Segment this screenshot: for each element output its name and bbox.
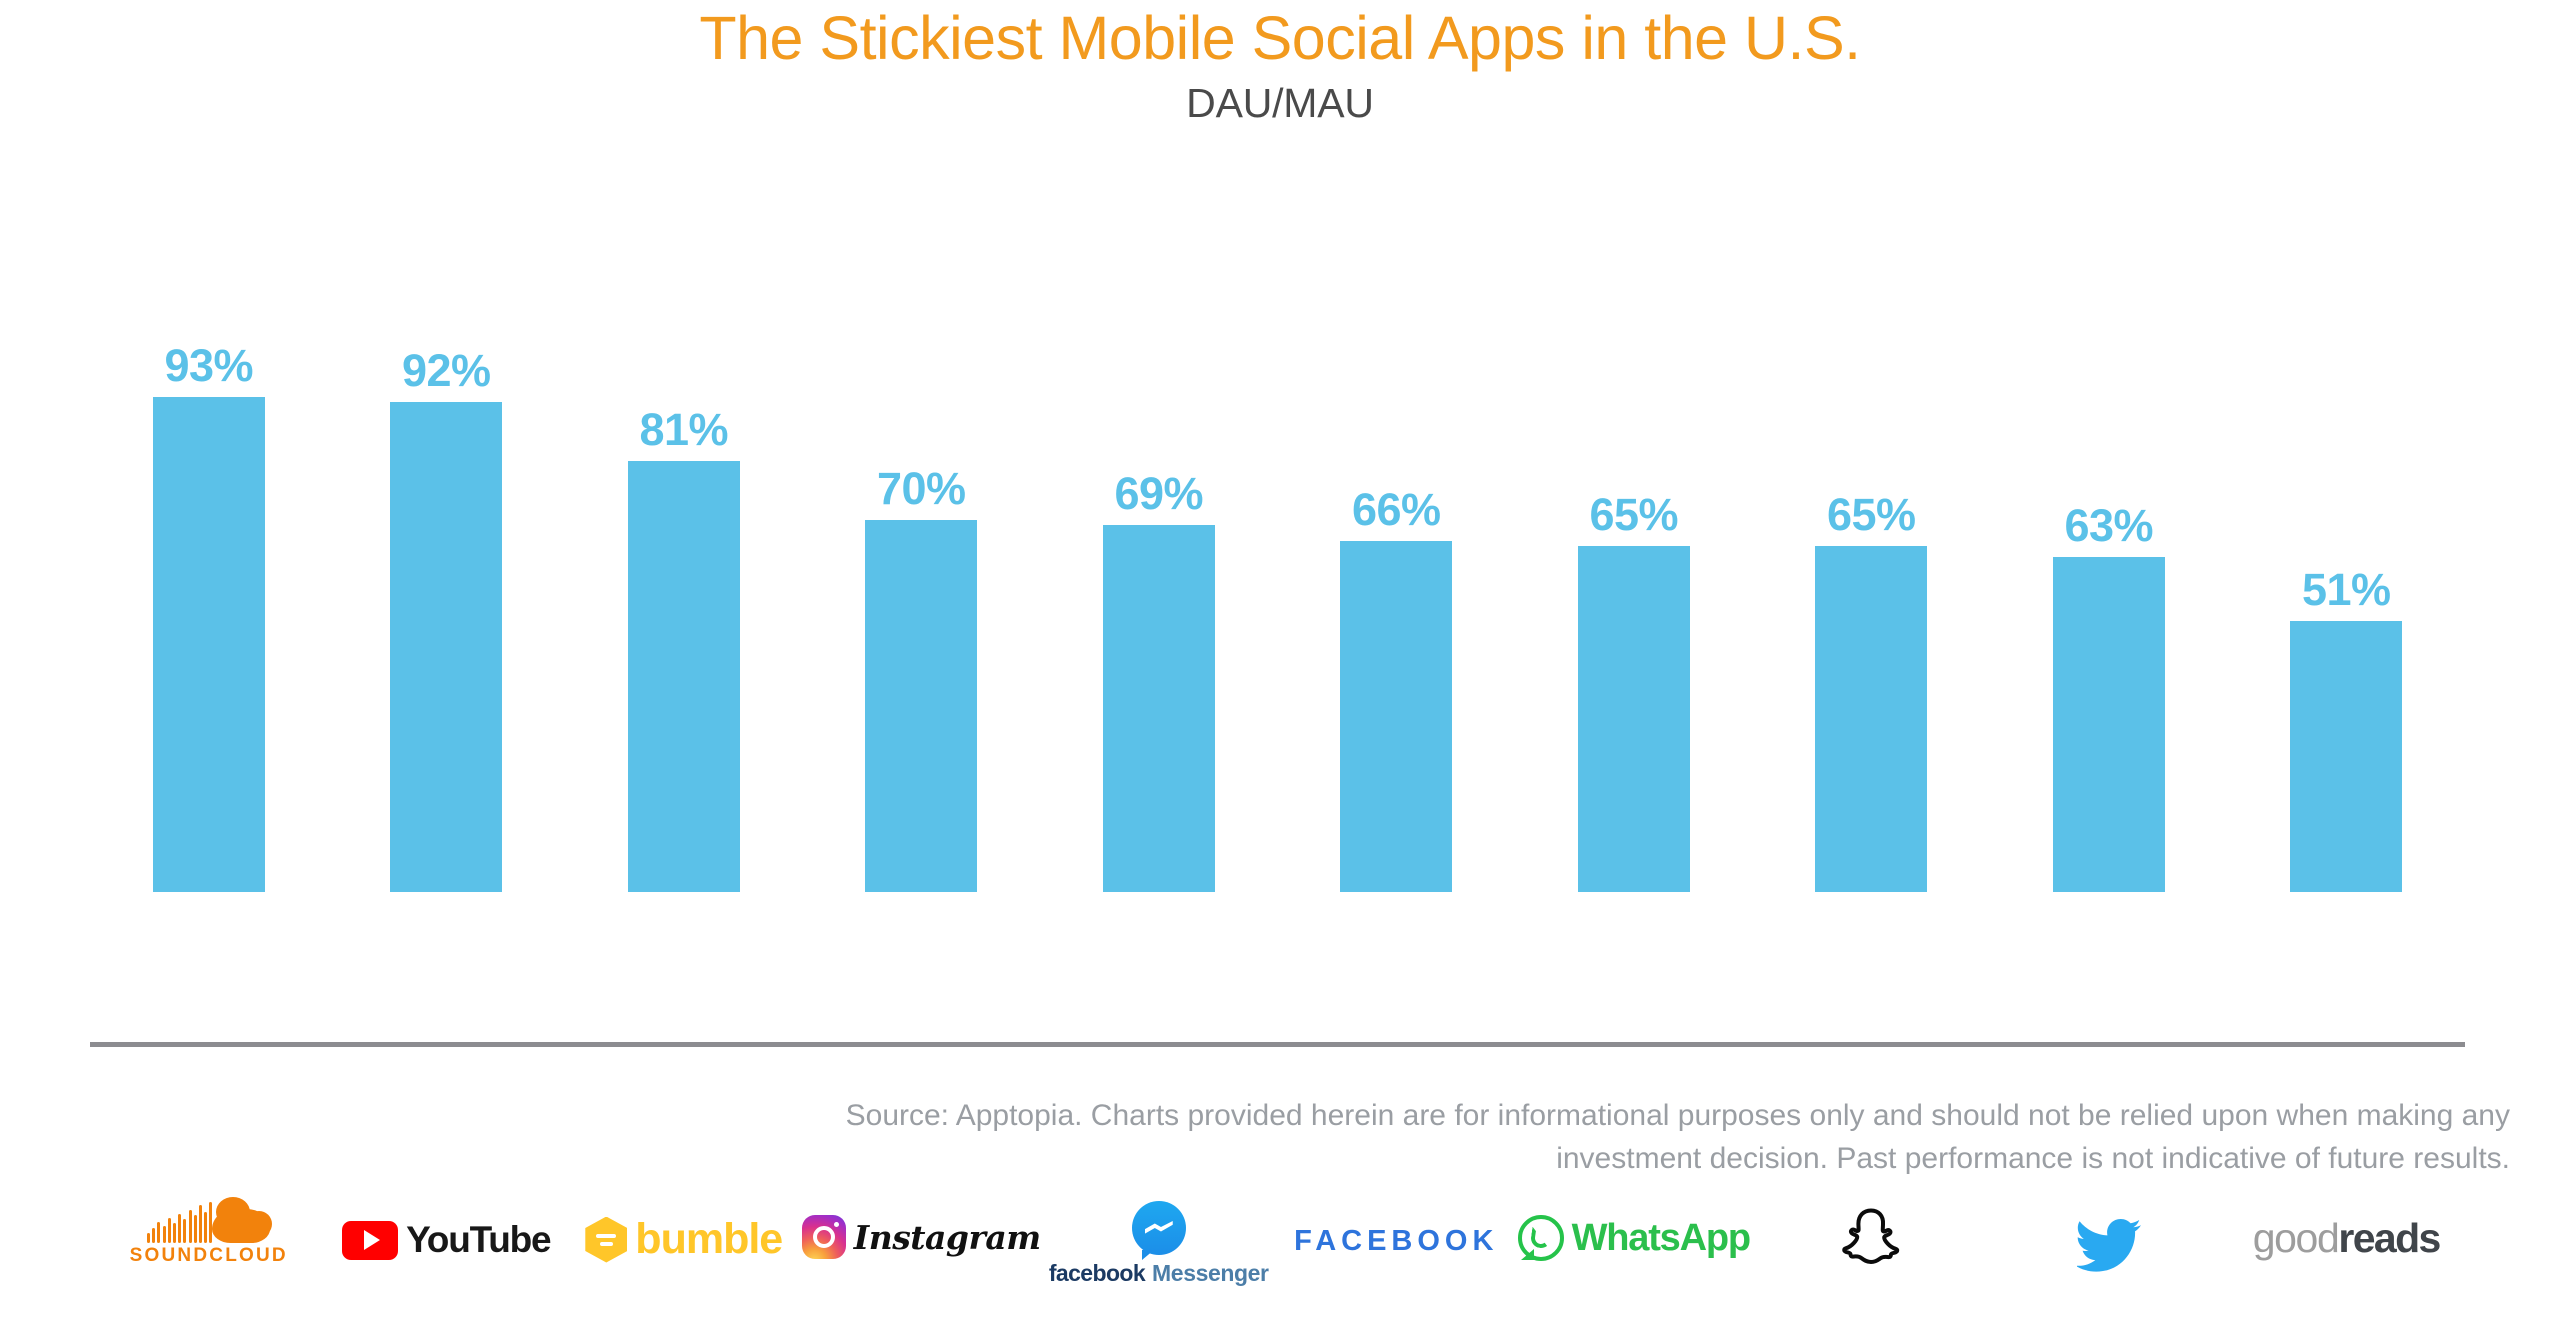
soundcloud-wordmark: SOUNDCLOUD <box>130 1245 288 1267</box>
bar-group-facebook[interactable]: 66% <box>1278 150 1516 892</box>
bar-series: 93% 92% 81% 70% 69% 66% 65% <box>90 150 2465 892</box>
x-label-facebook: FACEBOOK <box>1278 1197 1516 1258</box>
twitter-logo <box>2077 1201 2141 1273</box>
bar-value-label: 70% <box>877 463 966 515</box>
bar-rect[interactable] <box>153 397 265 892</box>
bar-group-whatsapp[interactable]: 65% <box>1515 150 1753 892</box>
bar-value-label: 66% <box>1352 484 1441 536</box>
bar-value-label: 63% <box>2064 500 2153 552</box>
bar-value-label: 65% <box>1589 489 1678 541</box>
x-label-instagram: Instagram <box>803 1197 1041 1259</box>
youtube-wordmark: YouTube <box>406 1219 550 1261</box>
facebook-wordmark: FACEBOOK <box>1294 1225 1498 1258</box>
bar-group-youtube[interactable]: 92% <box>328 150 566 892</box>
bar-group-soundcloud[interactable]: 93% <box>90 150 328 892</box>
bar-group-goodreads[interactable]: 51% <box>2228 150 2466 892</box>
bar-group-instagram[interactable]: 70% <box>803 150 1041 892</box>
bar-group-twitter[interactable]: 63% <box>1990 150 2228 892</box>
bar-rect[interactable] <box>1815 546 1927 892</box>
x-label-twitter <box>1990 1197 2228 1273</box>
snapchat-ghost-icon <box>1842 1207 1900 1269</box>
soundcloud-cloud-icon <box>212 1209 270 1243</box>
bar-rect[interactable] <box>2053 557 2165 892</box>
bar-rect[interactable] <box>1578 546 1690 892</box>
snapchat-logo <box>1842 1201 1900 1269</box>
x-axis-labels: SOUNDCLOUD YouTube bumble <box>90 1197 2465 1317</box>
bar-value-label: 93% <box>164 340 253 392</box>
bar-value-label: 69% <box>1114 468 1203 520</box>
x-label-youtube: YouTube <box>328 1197 566 1261</box>
instagram-camera-icon <box>802 1215 846 1259</box>
facebook-wordmark: facebook <box>1049 1260 1145 1287</box>
facebook-wordmark-logo: FACEBOOK <box>1294 1201 1498 1258</box>
bar-value-label: 92% <box>402 345 491 397</box>
messenger-bubble-icon <box>1132 1201 1186 1255</box>
bar-rect[interactable] <box>1103 525 1215 892</box>
x-label-goodreads: good reads <box>2228 1197 2466 1262</box>
messenger-bolt-icon <box>1145 1220 1173 1236</box>
messenger-wordmark: Messenger <box>1152 1260 1269 1287</box>
bar-chart: 93% 92% 81% 70% 69% 66% 65% <box>0 150 2560 910</box>
instagram-wordmark: Instagram <box>854 1218 1041 1257</box>
bar-value-label: 81% <box>639 404 728 456</box>
chart-subtitle: DAU/MAU <box>0 78 2560 129</box>
bar-group-snapchat[interactable]: 65% <box>1753 150 1991 892</box>
page-title: The Stickiest Mobile Social Apps in the … <box>0 6 2560 70</box>
bumble-logo: bumble <box>585 1201 782 1264</box>
bar-rect[interactable] <box>865 520 977 892</box>
x-axis-line <box>90 1042 2465 1047</box>
x-label-snapchat <box>1753 1197 1991 1269</box>
bar-rect[interactable] <box>390 402 502 892</box>
twitter-bird-icon <box>2077 1217 2141 1273</box>
x-label-bumble: bumble <box>565 1197 803 1264</box>
bar-group-bumble[interactable]: 81% <box>565 150 803 892</box>
bar-rect[interactable] <box>1340 541 1452 892</box>
bumble-hex-icon <box>585 1217 627 1263</box>
x-label-whatsapp: WhatsApp <box>1515 1197 1753 1261</box>
bar-value-label: 65% <box>1827 489 1916 541</box>
bar-rect[interactable] <box>628 461 740 892</box>
whatsapp-wordmark: WhatsApp <box>1572 1217 1750 1260</box>
soundcloud-waveform-icon <box>147 1201 270 1243</box>
bumble-wordmark: bumble <box>635 1215 782 1264</box>
bar-value-label: 51% <box>2302 564 2391 616</box>
youtube-play-icon <box>342 1221 398 1260</box>
facebook-messenger-logo: facebook Messenger <box>1049 1201 1269 1287</box>
goodreads-logo: good reads <box>2253 1201 2440 1262</box>
whatsapp-logo: WhatsApp <box>1518 1201 1750 1261</box>
source-note: Source: Apptopia. Charts provided herein… <box>0 1095 2510 1180</box>
whatsapp-phone-bubble-icon <box>1518 1215 1564 1261</box>
title-block: The Stickiest Mobile Social Apps in the … <box>0 0 2560 129</box>
bar-rect[interactable] <box>2290 621 2402 892</box>
x-label-soundcloud: SOUNDCLOUD <box>90 1197 328 1267</box>
soundcloud-logo: SOUNDCLOUD <box>130 1201 288 1267</box>
x-label-facebook-messenger: facebook Messenger <box>1040 1197 1278 1287</box>
youtube-logo: YouTube <box>342 1201 550 1261</box>
instagram-logo: Instagram <box>802 1201 1041 1259</box>
bar-group-facebook-messenger[interactable]: 69% <box>1040 150 1278 892</box>
